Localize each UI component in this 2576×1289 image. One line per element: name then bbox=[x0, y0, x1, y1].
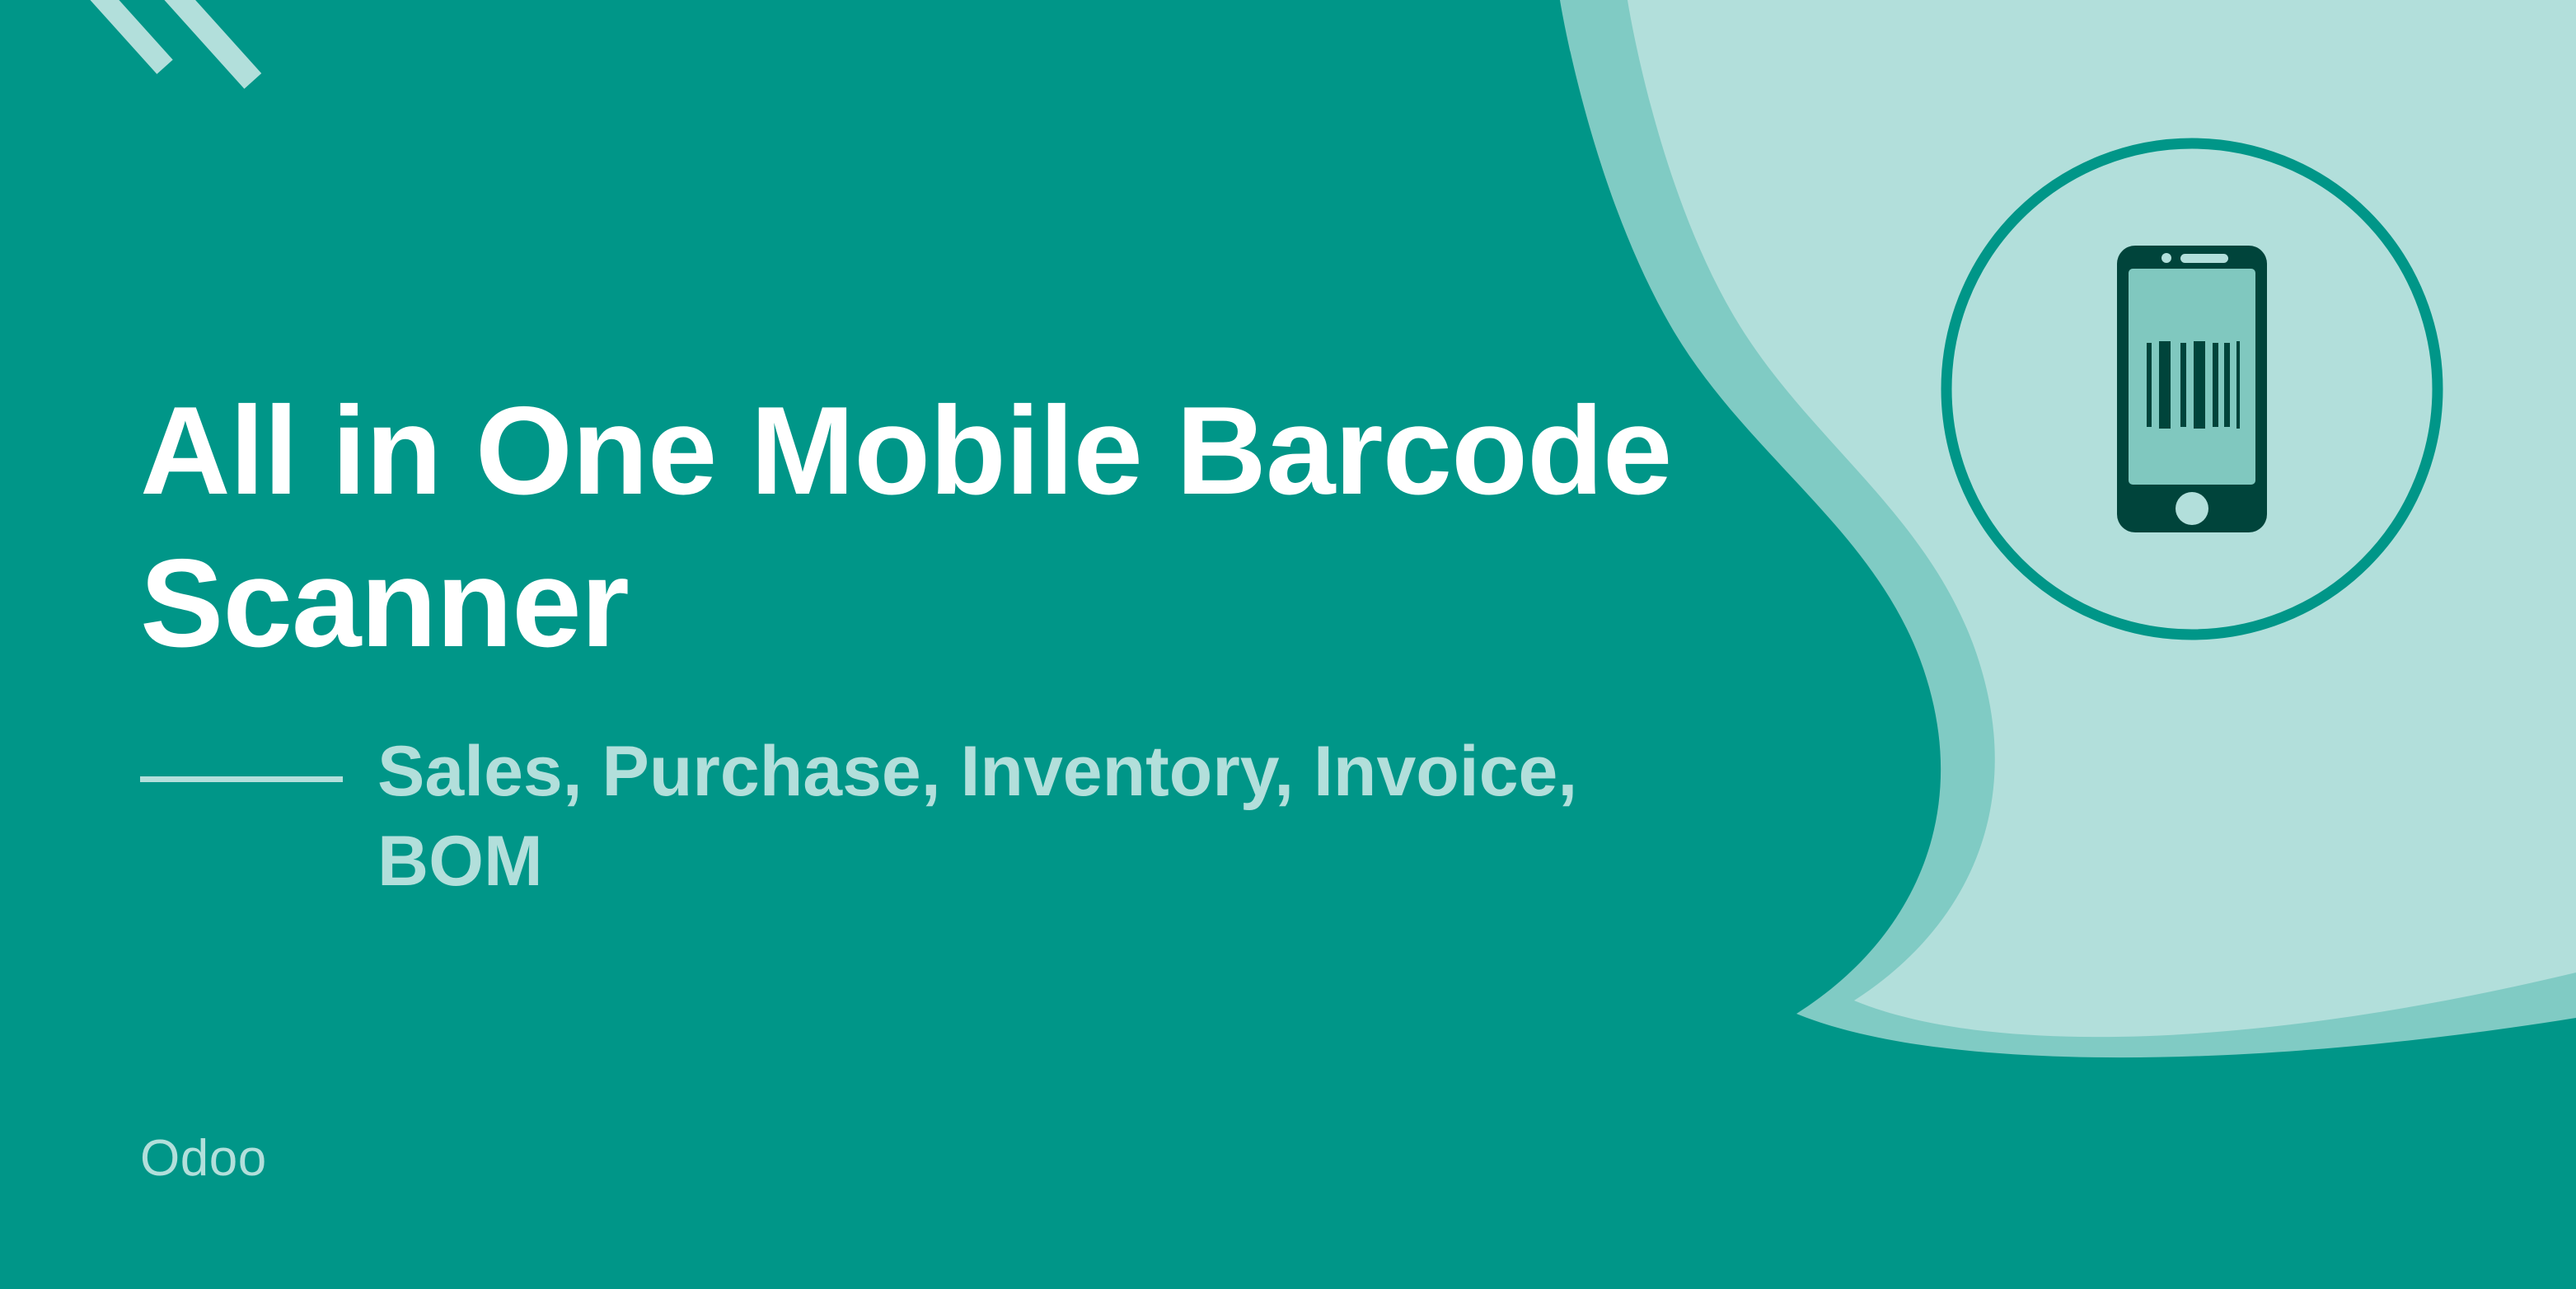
icon-circle-container bbox=[1933, 130, 2451, 648]
phone-home-button-icon bbox=[2176, 492, 2208, 525]
page-title: All in One Mobile Barcode Scanner bbox=[140, 375, 1722, 681]
phone-speaker-icon bbox=[2180, 254, 2228, 263]
slide-canvas: All in One Mobile Barcode Scanner Sales,… bbox=[0, 0, 2576, 1289]
brand-label: Odoo bbox=[140, 1129, 267, 1188]
mobile-barcode-icon bbox=[1933, 130, 2451, 648]
phone-camera-icon bbox=[2161, 253, 2171, 263]
headline-block: All in One Mobile Barcode Scanner Sales,… bbox=[140, 375, 1755, 907]
subtitle-rule bbox=[140, 776, 343, 782]
page-subtitle: Sales, Purchase, Inventory, Invoice, BOM bbox=[377, 727, 1729, 907]
subtitle-row: Sales, Purchase, Inventory, Invoice, BOM bbox=[140, 727, 1755, 907]
